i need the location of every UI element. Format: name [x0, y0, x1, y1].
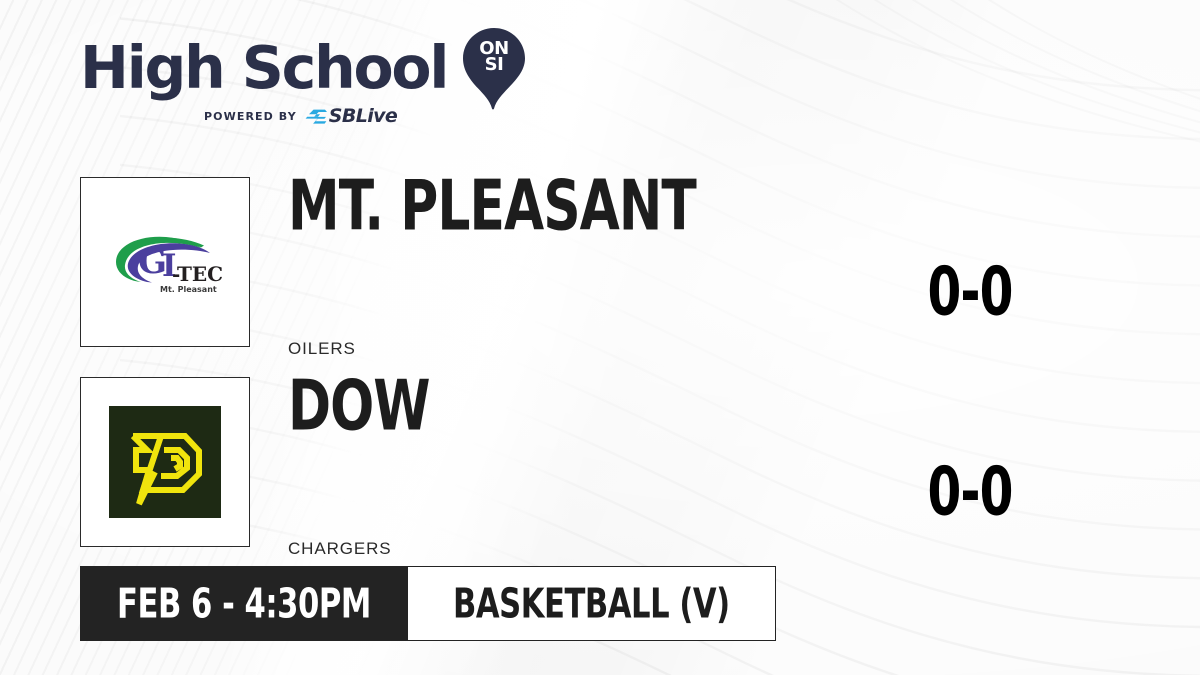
game-info-bar: FEB 6 - 4:30PM BASKETBALL (V): [80, 566, 776, 641]
on-si-pin-label: ON SI: [463, 41, 525, 73]
away-team-logo-box: [80, 377, 250, 547]
brand-header: High School ON SI POWERED BY SBLive: [80, 34, 510, 134]
game-sport-label: BASKETBALL (V): [453, 583, 730, 624]
away-team-record: 0-0: [889, 458, 1051, 525]
dow-chargers-d-logo-icon: [109, 406, 221, 518]
powered-by-row: POWERED BY SBLive: [204, 107, 510, 126]
away-team-mascot: CHARGERS: [288, 539, 392, 559]
sblive-s-mark-icon: [305, 108, 327, 126]
pin-label-si: SI: [463, 57, 525, 73]
matchup-graphic: High School ON SI POWERED BY SBLive: [0, 0, 1200, 675]
powered-by-label: POWERED BY: [204, 110, 297, 123]
brand-title: High School: [80, 37, 447, 99]
home-team-record: 0-0: [889, 258, 1051, 325]
sblive-wordmark: SBLive: [329, 107, 397, 126]
game-datetime-chip: FEB 6 - 4:30PM: [80, 566, 408, 641]
sblive-logo: SBLive: [305, 107, 397, 126]
home-team-mascot: OILERS: [288, 339, 356, 359]
gi-tec-oilers-logo-icon: G I -TEC Mt. Pleasant: [100, 226, 230, 298]
game-sport-chip: BASKETBALL (V): [408, 566, 776, 641]
home-team-name: MT. PLEASANT: [288, 171, 696, 240]
on-si-pin-icon: ON SI: [463, 28, 525, 110]
svg-text:-TEC: -TEC: [172, 262, 223, 286]
game-datetime-label: FEB 6 - 4:30PM: [117, 583, 371, 624]
away-team-name: DOW: [288, 371, 430, 440]
svg-text:Mt. Pleasant: Mt. Pleasant: [160, 285, 217, 294]
brand-title-row: High School ON SI: [80, 34, 510, 102]
home-team-logo-box: G I -TEC Mt. Pleasant: [80, 177, 250, 347]
